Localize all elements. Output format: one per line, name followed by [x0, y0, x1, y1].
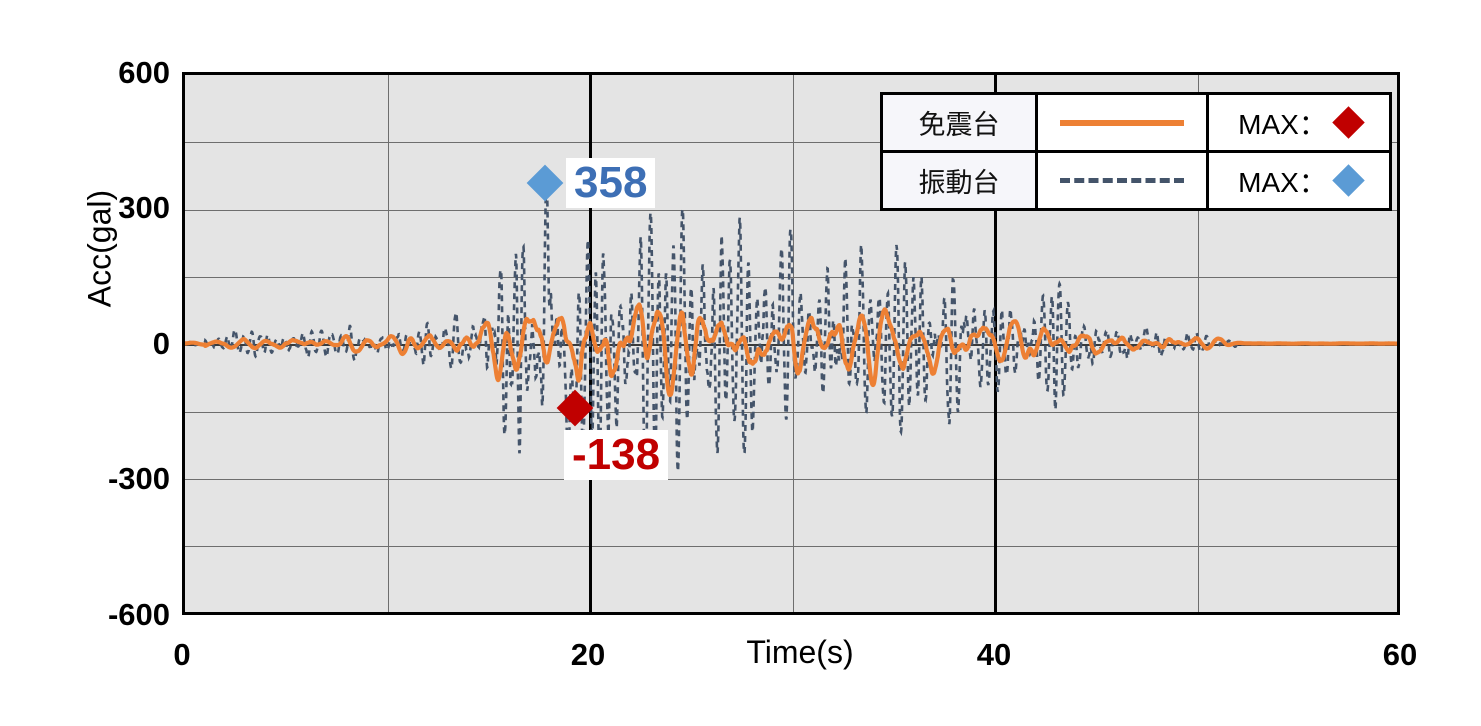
y-axis-tick-neg300: -300	[0, 461, 170, 497]
x-axis-tick-60: 60	[1383, 637, 1417, 673]
legend-label-isolated-table: 免震台	[883, 95, 1038, 150]
legend-label-shaking-table: 振動台	[883, 153, 1038, 208]
legend-max-text-isolated: MAX：	[1238, 103, 1327, 143]
legend-sample-dashed-line	[1038, 153, 1209, 208]
legend-sample-solid-line	[1038, 95, 1209, 150]
acceleration-time-history-chart: 600 300 0 -300 -600 Acc(gal) 0 20 40 60 …	[0, 0, 1481, 726]
max-callout-isolated-table: -138	[564, 430, 668, 480]
x-axis-title: Time(s)	[746, 634, 853, 671]
y-axis-title: Acc(gal)	[82, 129, 119, 369]
legend-max-text-shaking: MAX：	[1238, 161, 1327, 201]
y-axis-tick-neg600: -600	[0, 597, 170, 633]
solid-line-icon	[1060, 120, 1184, 126]
x-axis-tick-40: 40	[977, 637, 1011, 673]
max-callout-shaking-table: 358	[566, 158, 655, 208]
y-axis-tick-600: 600	[0, 55, 170, 91]
legend-row-isolated-table: 免震台 MAX：	[883, 95, 1389, 153]
legend: 免震台 MAX： 振動台 MAX：	[880, 92, 1392, 211]
dashed-line-icon	[1060, 178, 1184, 183]
legend-max-shaking-table: MAX：	[1209, 153, 1389, 208]
x-axis-tick-20: 20	[571, 637, 605, 673]
red-diamond-icon	[1332, 106, 1365, 139]
x-axis-tick-0: 0	[173, 637, 190, 673]
legend-row-shaking-table: 振動台 MAX：	[883, 153, 1389, 208]
blue-diamond-icon	[1332, 164, 1365, 197]
legend-max-isolated-table: MAX：	[1209, 95, 1389, 150]
series-line-isolated-table	[185, 305, 1397, 396]
